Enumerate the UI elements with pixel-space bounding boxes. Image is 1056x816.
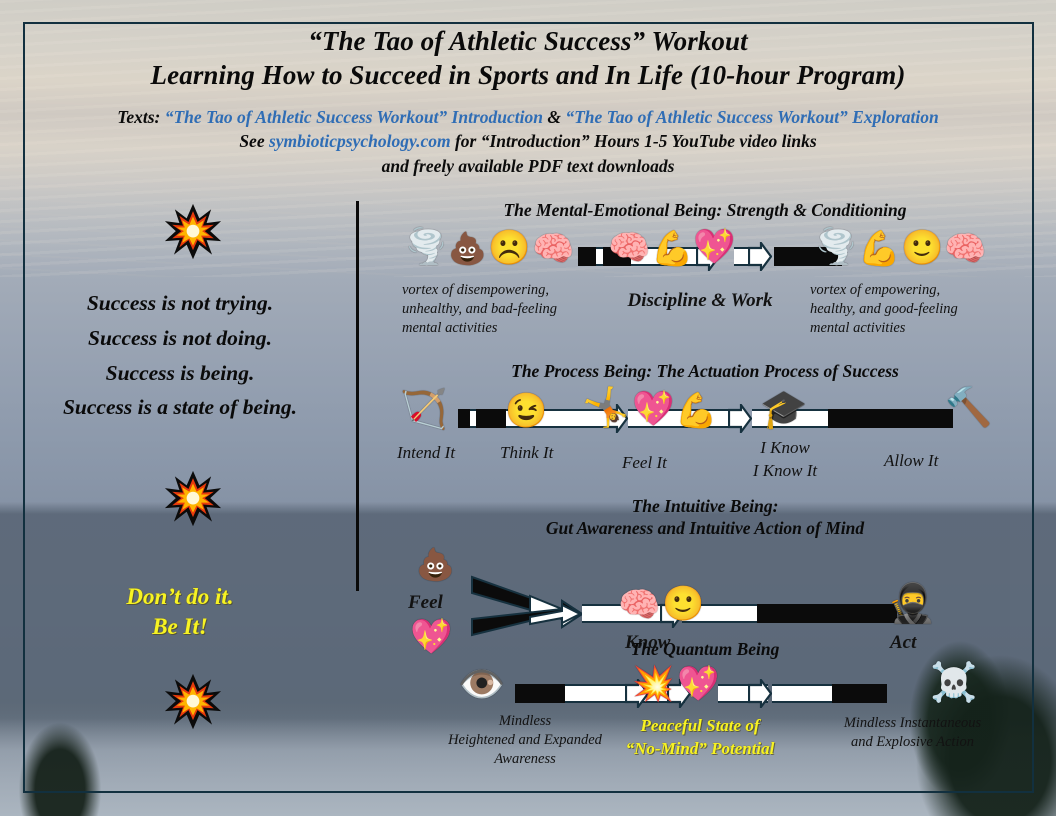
step-label-intend: Intend It [397, 442, 455, 464]
slogan-block: Don’t do it. Be It! [20, 582, 340, 643]
pole-vaulter-icon: 🤸 [582, 389, 629, 427]
flexed-bicep-icon: 💪 [651, 233, 693, 267]
step-label-know-1: I Know [735, 437, 835, 459]
section-quantum-being: The Quantum Being 👁️ 💥 💖 [360, 638, 1050, 728]
caption-left-line2: unhealthy, and bad-feeling [402, 300, 622, 319]
section-title-line2: Gut Awareness and Intuitive Action of Mi… [360, 517, 1050, 539]
see-rest: for “Introduction” Hours 1-5 YouTube vid… [455, 131, 817, 151]
text-link-exploration[interactable]: “The Tao of Athletic Success Workout” Ex… [565, 107, 938, 127]
caption-right: vortex of empowering, healthy, and good-… [810, 281, 1025, 338]
brain-lightning-icon: 🧠 [532, 233, 574, 267]
caption-left-line3: mental activities [402, 319, 622, 338]
section-intuitive-being: The Intuitive Being: Gut Awareness and I… [360, 495, 1050, 651]
skull-and-crossbones-icon: ☠️ [930, 664, 977, 702]
caption-left: vortex of disempowering, unhealthy, and … [402, 281, 622, 338]
caption-left-line1: vortex of disempowering, [402, 281, 622, 300]
caption-center: Peaceful State of “No-Mind” Potential [600, 714, 800, 761]
sparkling-heart-icon: 💖 [632, 393, 674, 427]
tornado-icon: 🌪️ [815, 231, 857, 265]
flexed-bicep-icon: 💪 [675, 395, 717, 429]
website-link[interactable]: symbioticpsychology.com [269, 131, 451, 151]
caption-left-line2: Heightened and Expanded [420, 731, 630, 750]
smiling-face-icon: 🙂 [901, 232, 943, 266]
vertical-divider [356, 201, 359, 591]
creed-line-4: Success is a state of being. [20, 390, 340, 425]
eye-icon: 👁️ [458, 666, 505, 704]
texts-ampersand: & [547, 107, 561, 127]
page-title-line1: “The Tao of Athletic Success” Workout [0, 26, 1056, 57]
collision-icon [164, 673, 222, 731]
brain-icon: 🧠 [618, 589, 660, 623]
collision-icon [164, 203, 222, 261]
caption-right-line3: mental activities [810, 319, 1025, 338]
section-title: The Mental-Emotional Being: Strength & C… [360, 199, 1050, 221]
arrow-bar-3 [800, 409, 960, 428]
creed-line-2: Success is not doing. [20, 321, 340, 356]
collision-icon: 💥 [632, 668, 674, 702]
sparkling-heart-icon: 💖 [693, 231, 735, 265]
caption-center: Discipline & Work [600, 289, 800, 314]
slogan-line-1: Don’t do it. [20, 582, 340, 612]
creed-block: Success is not trying. Success is not do… [20, 286, 340, 425]
hammer-icon: 🔨 [945, 389, 992, 427]
creed-line-1: Success is not trying. [20, 286, 340, 321]
tornado-icon: 🌪️ [405, 231, 447, 265]
smiling-face-icon: 🙂 [662, 588, 704, 622]
section-mental-emotional-being: The Mental-Emotional Being: Strength & C… [360, 199, 1050, 291]
poop-icon: 💩 [448, 233, 487, 264]
ninja-icon: 🥷 [888, 585, 935, 623]
caption-left-line1: Mindless [420, 712, 630, 731]
step-label-allow: Allow It [884, 450, 938, 472]
poster-header: “The Tao of Athletic Success” Workout Le… [0, 26, 1056, 179]
page-title-line2: Learning How to Succeed in Sports and In… [0, 60, 1056, 91]
sparkling-heart-icon: 💖 [677, 668, 719, 702]
see-line3: and freely available PDF text downloads [0, 154, 1056, 179]
section-process-being: The Process Being: The Actuation Process… [360, 360, 1050, 453]
caption-left: Mindless Heightened and Expanded Awarene… [420, 712, 630, 769]
header-subtext: Texts: “The Tao of Athletic Success Work… [0, 105, 1056, 180]
poop-icon: 💩 [416, 549, 455, 580]
section-title-line1: The Intuitive Being: [360, 495, 1050, 517]
text-link-introduction[interactable]: “The Tao of Athletic Success Workout” In… [165, 107, 543, 127]
feel-label: Feel [408, 591, 443, 616]
caption-center-line1: Peaceful State of [600, 714, 800, 737]
arrow-bar-right [718, 684, 918, 703]
section-title: The Quantum Being [360, 638, 1050, 660]
step-label-know-2: I Know It [730, 460, 840, 482]
winking-face-icon: 😉 [505, 395, 547, 429]
caption-center-line2: “No-Mind” Potential [600, 737, 800, 760]
collision-icon [164, 470, 222, 528]
step-label-think: Think It [500, 442, 553, 464]
caption-right-line1: vortex of empowering, [810, 281, 1025, 300]
slogan-line-2: Be It! [20, 612, 340, 642]
bow-and-arrow-icon: 🏹 [400, 391, 447, 429]
caption-left-line3: Awareness [420, 750, 630, 769]
brain-icon: 🧠 [608, 232, 650, 266]
frowning-face-icon: ☹️ [488, 232, 530, 266]
texts-label: Texts: [117, 107, 160, 127]
caption-right-line2: healthy, and good-feeling [810, 300, 1025, 319]
see-word: See [239, 131, 264, 151]
poster-canvas: “The Tao of Athletic Success” Workout Le… [0, 0, 1056, 816]
caption-right-line2: and Explosive Action [800, 733, 1025, 752]
brain-icon: 🧠 [944, 233, 986, 267]
flexed-bicep-icon: 💪 [858, 233, 900, 267]
step-label-feel: Feel It [622, 452, 667, 474]
caption-right-line1: Mindless Instantaneous [800, 714, 1025, 733]
section-title: The Process Being: The Actuation Process… [360, 360, 1050, 382]
creed-line-3: Success is being. [20, 356, 340, 391]
caption-right: Mindless Instantaneous and Explosive Act… [800, 714, 1025, 752]
